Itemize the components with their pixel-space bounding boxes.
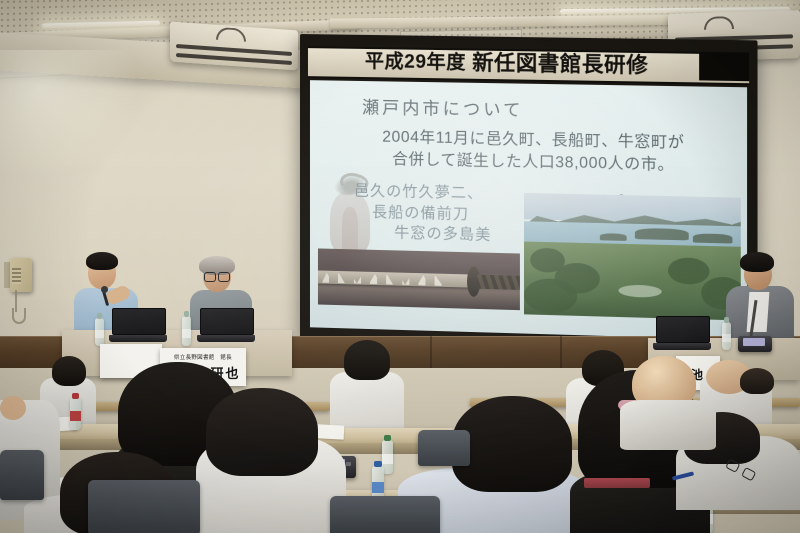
presenter-laptop-2[interactable] xyxy=(200,308,252,342)
chair-back[interactable] xyxy=(330,496,440,533)
presenter-laptop-1[interactable] xyxy=(112,308,164,342)
placard-affiliation: 県立長野図書館 館長 xyxy=(174,353,232,361)
bizen-sword-photo xyxy=(318,248,520,310)
slide-surface: 瀬戸内市について 2004年11月に邑久町、長船町、牛窓町が 合併して誕生した人… xyxy=(310,80,747,340)
slide-lead-text: 2004年11月に邑久町、長船町、牛窓町が 合併して誕生した人口38,000人の… xyxy=(342,126,726,178)
wall-phone-keypad[interactable] xyxy=(12,268,21,284)
water-bottle[interactable] xyxy=(70,398,81,430)
eyeglasses-icon xyxy=(204,272,230,280)
setouchi-seascape-photo xyxy=(524,193,741,321)
slide-title: 瀬戸内市について xyxy=(362,93,523,121)
presenter-laptop-3[interactable] xyxy=(656,316,708,350)
wall-phone-hook xyxy=(12,308,26,324)
red-notebook[interactable] xyxy=(584,478,650,488)
chair-back[interactable] xyxy=(88,480,200,533)
wall-light-glow xyxy=(0,50,140,180)
conference-microphone-unit[interactable] xyxy=(738,336,772,352)
chair-back[interactable] xyxy=(418,430,470,466)
water-bottle[interactable] xyxy=(182,316,191,346)
seminar-room-photo: 平成29年度 新任図書館長研修 瀬戸内市について 2004年11月に邑久町、長船… xyxy=(0,0,800,533)
projection-screen: 平成29年度 新任図書館長研修 瀬戸内市について 2004年11月に邑久町、長船… xyxy=(300,34,758,353)
microphone-head-icon xyxy=(101,286,108,293)
water-bottle[interactable] xyxy=(95,318,104,346)
seminar-era-label: 平成29年度 xyxy=(365,51,466,72)
water-bottle[interactable] xyxy=(722,322,731,350)
chair-back[interactable] xyxy=(0,450,44,500)
screen-roller-end xyxy=(699,52,749,81)
seminar-name-label: 新任図書館長研修 xyxy=(472,52,648,76)
